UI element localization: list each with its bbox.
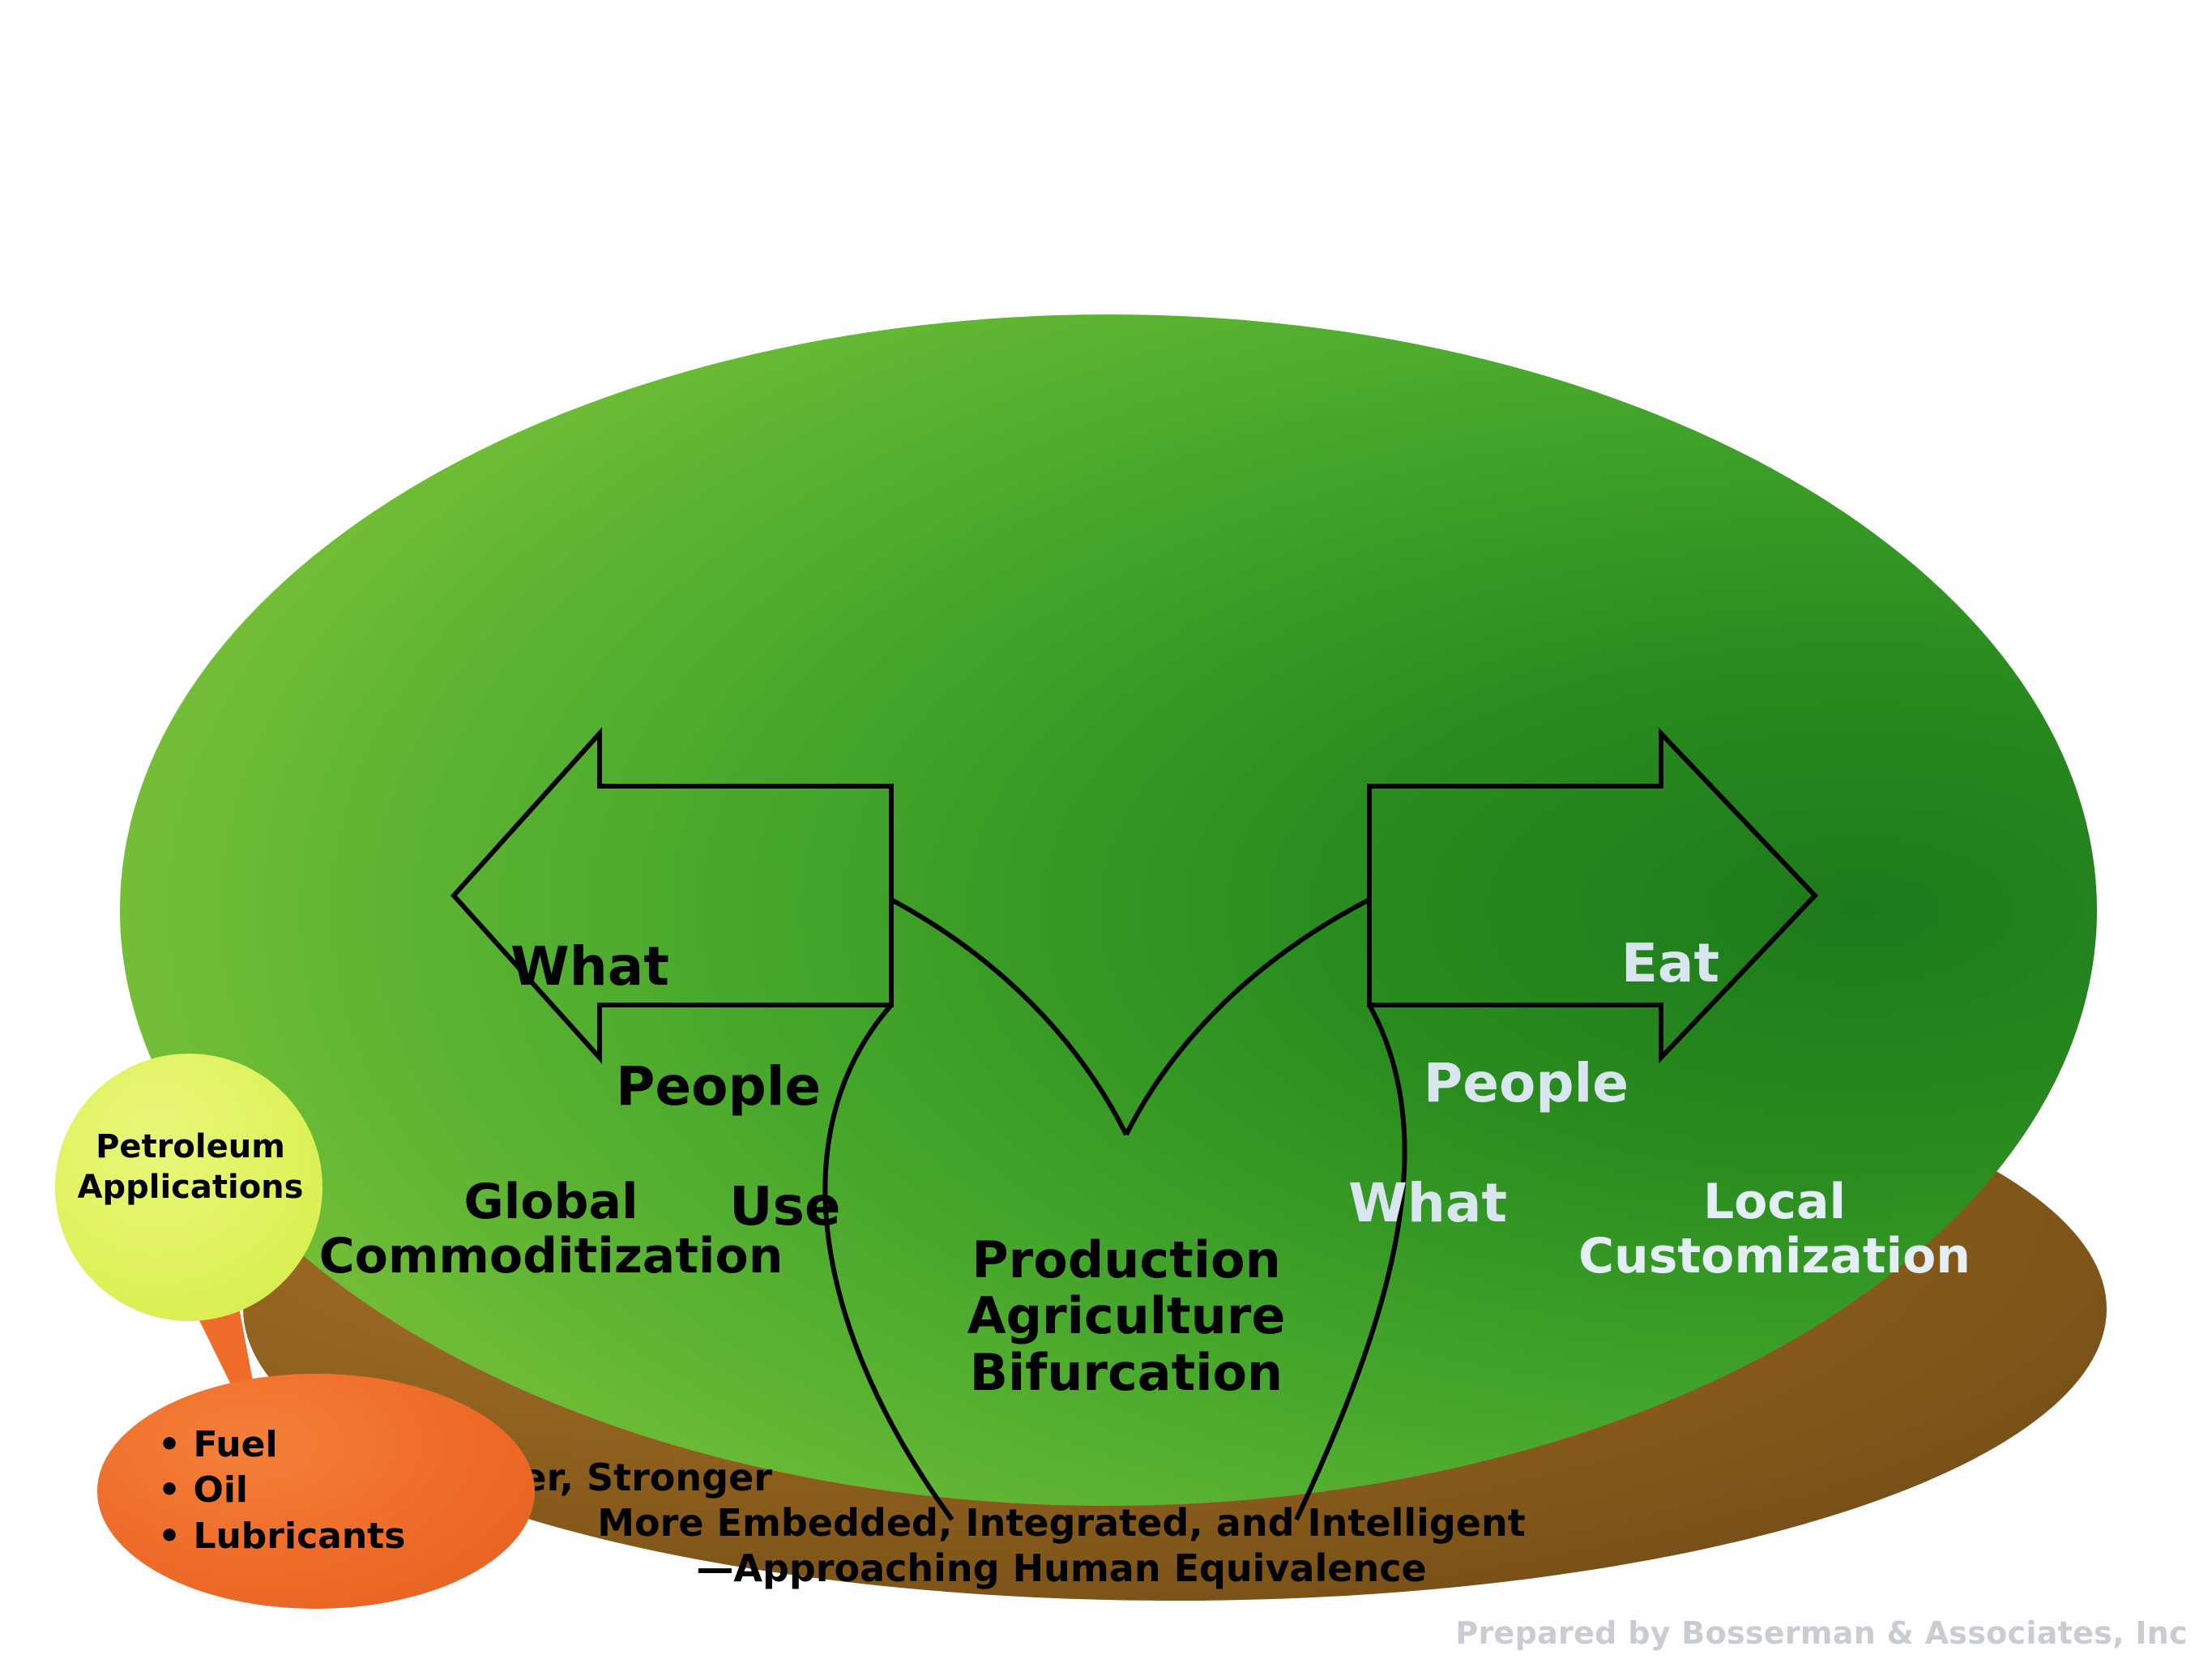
callout-item-list: • Fuel • Oil • Lubricants [158,1422,498,1559]
callout-item-3: • Lubricants [158,1514,498,1559]
label-production-agriculture-bifurcation: Production Agriculture Bifurcation [916,1232,1337,1400]
slide-canvas: What People Use Eat People What Global C… [0,0,2212,1659]
right-arrow-label-line1: Eat [1240,934,1791,994]
callout-item-2: • Oil [158,1468,498,1513]
right-arrow-label-line2: People [1240,1054,1791,1114]
credit-line: Prepared by Bosserman & Associates, Inc [1455,1615,2188,1651]
left-arrow-label-line2: People [454,1057,956,1117]
label-global-commoditization: Global Commoditization [267,1175,835,1284]
left-arrow-label-line1: What [454,937,956,997]
callout-item-1: • Fuel [158,1422,498,1468]
petroleum-bubble-label-line1: Petroleum [49,1127,332,1167]
label-local-customization: Local Customization [1523,1175,2026,1284]
petroleum-bubble-label-line2: Applications [49,1167,332,1208]
petroleum-bubble-label: Petroleum Applications [49,1127,332,1208]
